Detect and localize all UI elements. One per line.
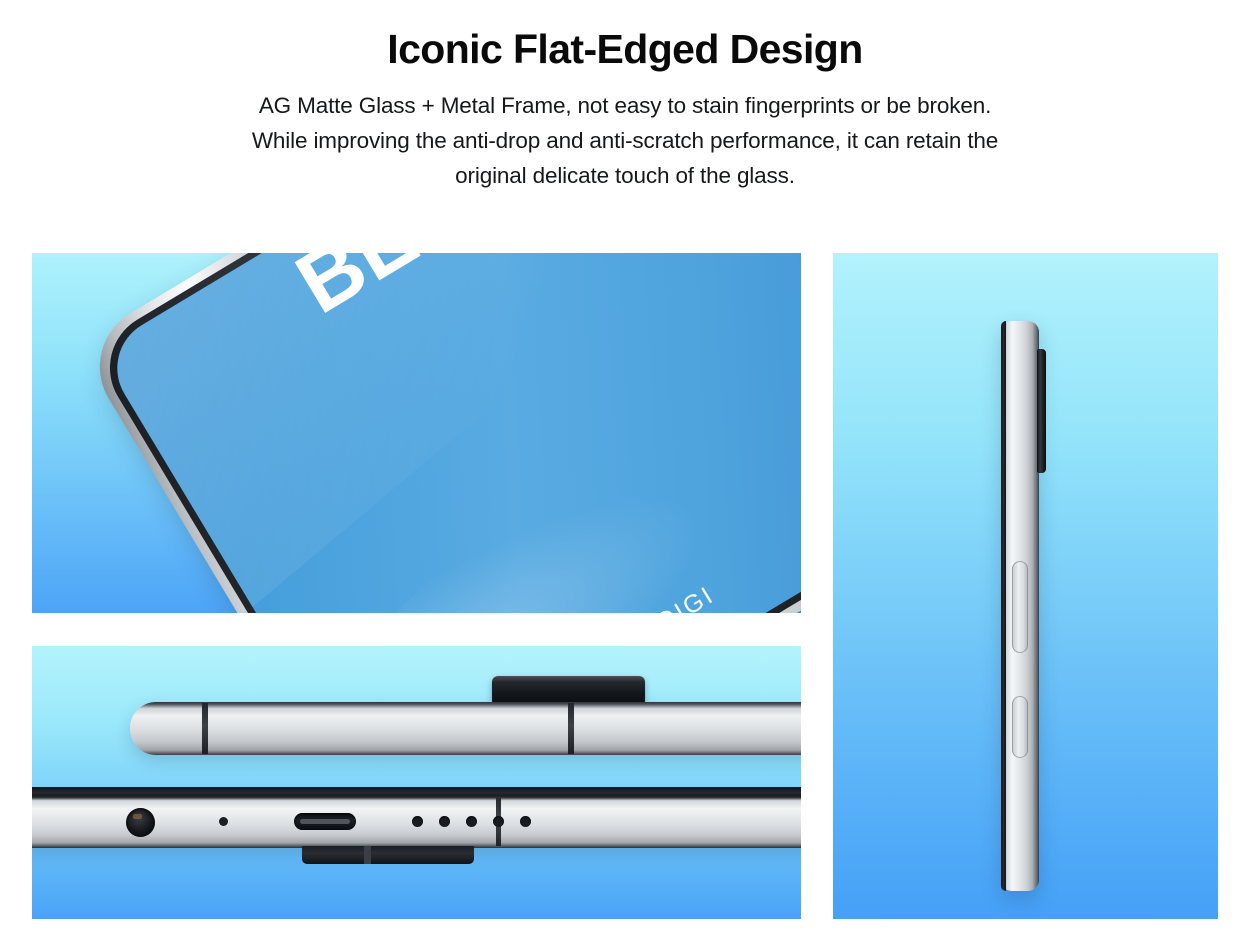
subtitle-line-1: AG Matte Glass + Metal Frame, not easy t… — [0, 89, 1250, 124]
phone-top-edge — [130, 702, 801, 755]
product-image-phone-corner: BEYOND UMIDIGI — [32, 253, 801, 613]
speaker-hole — [466, 816, 477, 827]
usb-c-port — [294, 813, 356, 830]
page-subtitle: AG Matte Glass + Metal Frame, not easy t… — [0, 89, 1250, 194]
edge-bezel-rim — [32, 787, 801, 796]
phone-bottom-edge — [32, 796, 801, 848]
phone-side-profile-render — [1001, 321, 1039, 891]
camera-module-bar-upper — [492, 676, 645, 704]
speaker-hole — [412, 816, 423, 827]
page-title: Iconic Flat-Edged Design — [0, 26, 1250, 73]
antenna-seam — [568, 703, 574, 754]
power-button — [1012, 696, 1028, 758]
microphone-hole — [219, 817, 228, 826]
headphone-jack — [126, 808, 155, 837]
antenna-seam — [202, 703, 208, 754]
product-image-gallery: BEYOND UMIDIGI — [32, 253, 1218, 919]
speaker-holes-group — [412, 816, 531, 827]
subtitle-line-2: While improving the anti-drop and anti-s… — [0, 124, 1250, 159]
camera-module-bar-lower — [302, 846, 474, 864]
speaker-hole — [520, 816, 531, 827]
phone-front-glass-edge — [1001, 321, 1006, 891]
product-image-side-profile — [833, 253, 1218, 919]
subtitle-line-3: original delicate touch of the glass. — [0, 159, 1250, 194]
speaker-hole — [439, 816, 450, 827]
volume-rocker-button — [1012, 561, 1028, 653]
camera-bump — [1037, 349, 1046, 473]
speaker-hole — [493, 816, 504, 827]
product-image-phone-edges — [32, 646, 801, 919]
header-block: Iconic Flat-Edged Design AG Matte Glass … — [0, 0, 1250, 194]
product-feature-page: Iconic Flat-Edged Design AG Matte Glass … — [0, 0, 1250, 952]
phone-corner-render: BEYOND UMIDIGI — [77, 253, 801, 613]
camera-lens-gap — [364, 846, 371, 864]
